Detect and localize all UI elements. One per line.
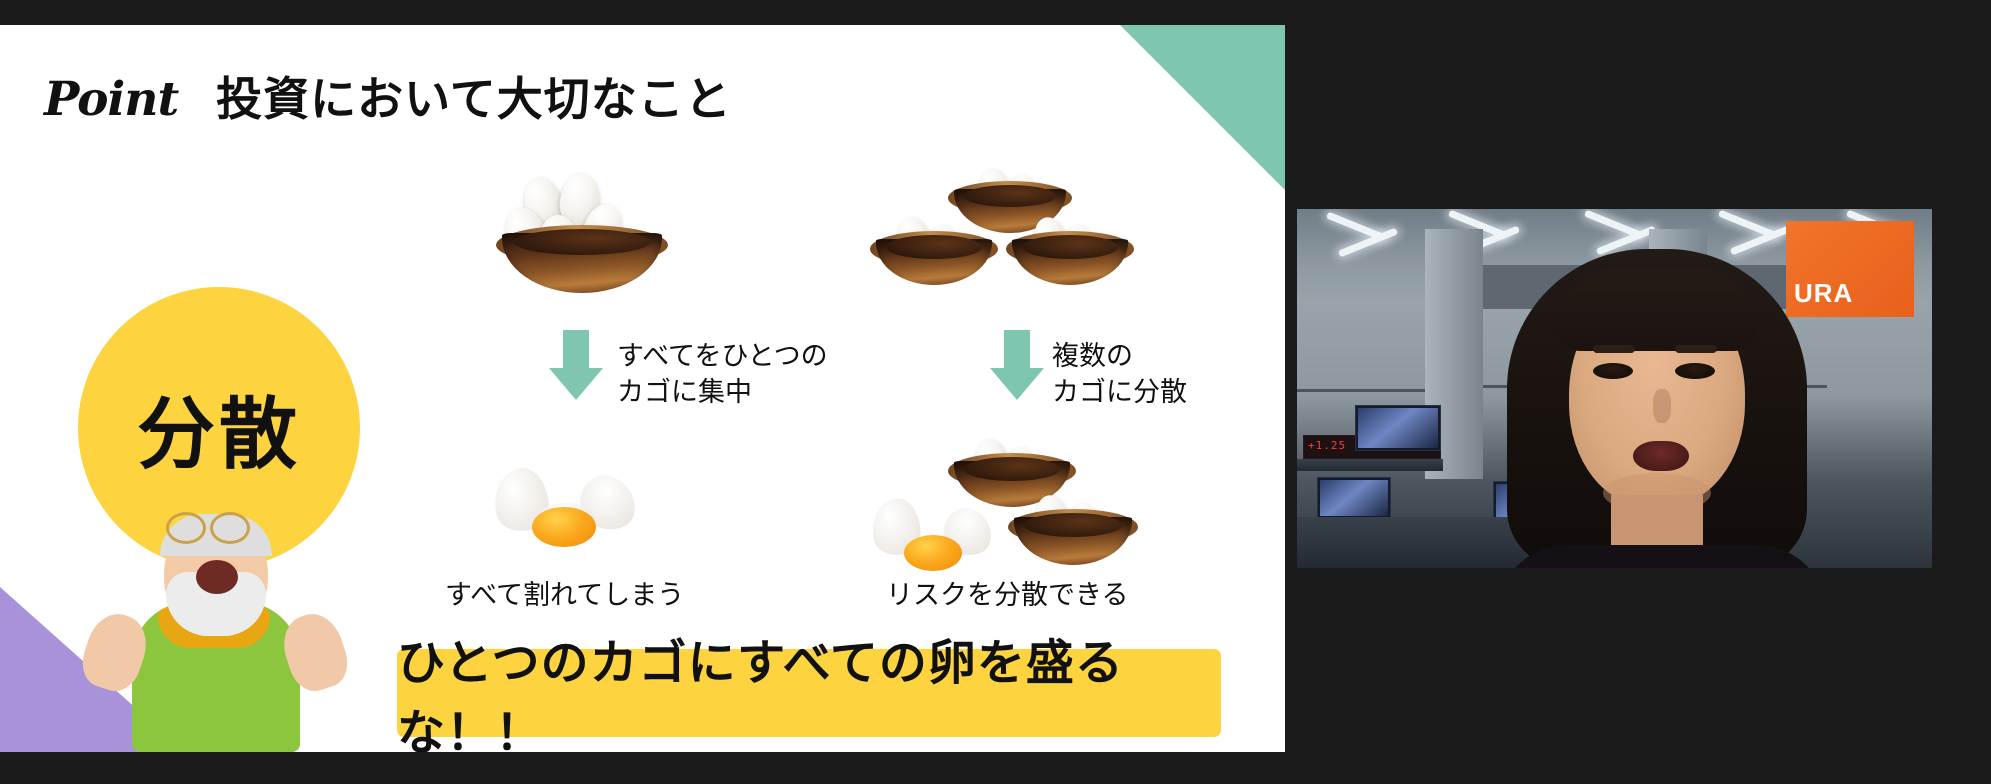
corner-decoration-green <box>1120 25 1285 190</box>
screen-root: Point 投資において大切なこと 分散 すべてをひとつの カゴに集中 <box>0 0 1991 784</box>
key-message-banner: ひとつのカゴにすべての卵を盛るな！！ <box>397 649 1221 737</box>
desk-ledge <box>1297 459 1443 471</box>
banner-text: ひとつのカゴにすべての卵を盛るな！！ <box>397 623 1221 752</box>
label-diversify: 複数の カゴに分散 <box>1052 338 1187 411</box>
image-two-bowls-and-broken-egg <box>872 437 1144 573</box>
label-concentrate: すべてをひとつの カゴに集中 <box>617 338 828 411</box>
keyword-circle-label: 分散 <box>137 372 301 484</box>
title-point-badge: Point <box>44 72 178 127</box>
down-arrow-icon-right <box>990 330 1044 400</box>
slide-title: Point 投資において大切なこと <box>44 63 732 129</box>
presenter <box>1507 249 1807 568</box>
presenter-video-tile[interactable]: URA +1.25 -0.83 +2.10 0.67 1.92 <box>1297 209 1932 568</box>
page-title: 投資において大切なこと <box>216 63 732 129</box>
monitor-2 <box>1317 477 1391 519</box>
image-one-bowl-many-eggs <box>492 173 672 293</box>
monitor-1 <box>1355 405 1441 451</box>
mascot-old-man <box>80 502 350 752</box>
down-arrow-icon-left <box>549 330 603 400</box>
image-three-bowls <box>870 167 1140 295</box>
caption-risk-spread: リスクを分散できる <box>886 573 1128 612</box>
image-broken-egg <box>492 463 642 549</box>
presentation-slide: Point 投資において大切なこと 分散 すべてをひとつの カゴに集中 <box>0 25 1285 752</box>
caption-all-break: すべて割れてしまう <box>445 573 684 612</box>
